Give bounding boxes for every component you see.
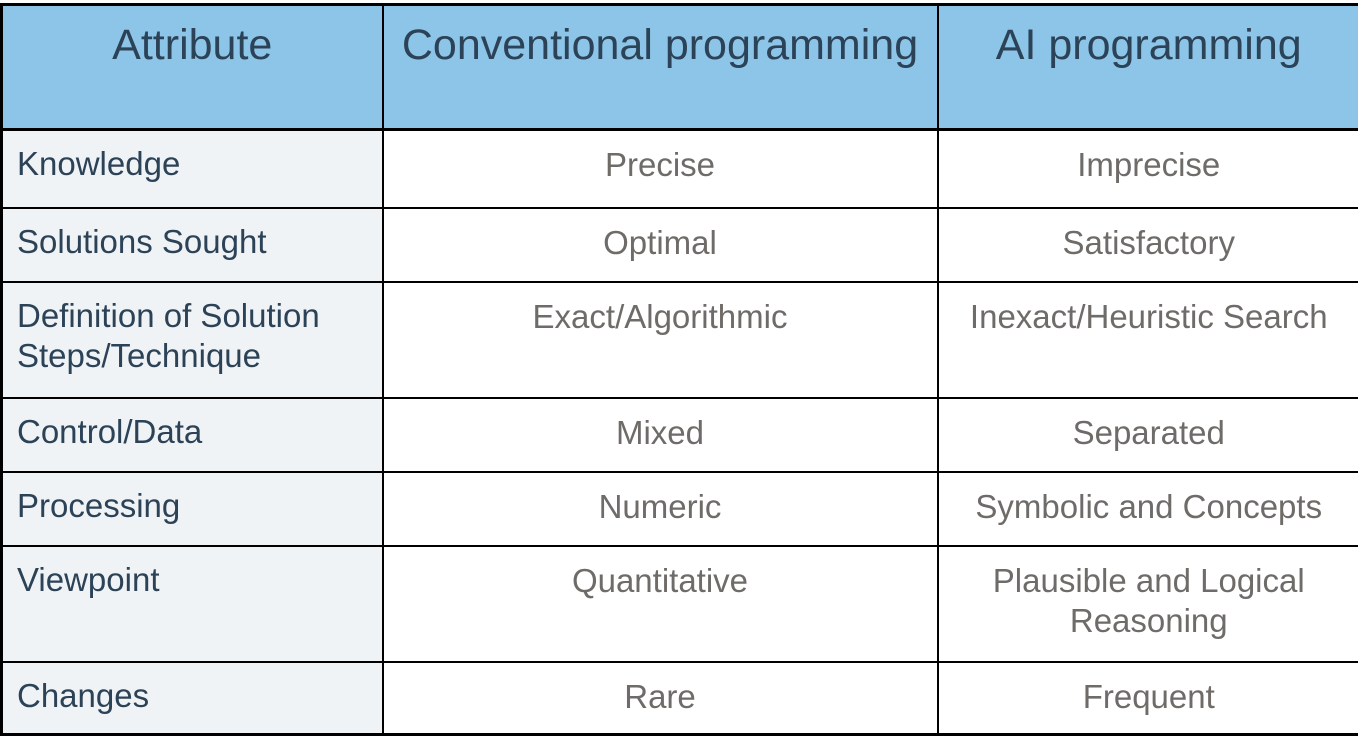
ai-value-cell: Separated [938,398,1358,472]
comparison-table: Attribute Conventional programming AI pr… [0,3,1358,736]
header-row: Attribute Conventional programming AI pr… [2,5,1358,130]
table-row: Control/Data Mixed Separated [2,398,1358,472]
ai-value-cell: Symbolic and Concepts [938,472,1358,546]
table-row: Definition of Solution Steps/Technique E… [2,282,1358,398]
table-row: Solutions Sought Optimal Satisfactory [2,208,1358,282]
conventional-value-cell: Precise [383,130,938,208]
conventional-value-cell: Rare [383,662,938,735]
ai-value-cell: Frequent [938,662,1358,735]
ai-value-cell: Satisfactory [938,208,1358,282]
attribute-cell: Viewpoint [2,546,383,662]
table-body: Knowledge Precise Imprecise Solutions So… [2,130,1358,735]
conventional-value-cell: Numeric [383,472,938,546]
ai-value-cell: Imprecise [938,130,1358,208]
table-row: Knowledge Precise Imprecise [2,130,1358,208]
attribute-cell: Processing [2,472,383,546]
attribute-cell: Definition of Solution Steps/Technique [2,282,383,398]
conventional-value-cell: Exact/Algorithmic [383,282,938,398]
attribute-cell: Changes [2,662,383,735]
ai-value-cell: Inexact/Heuristic Search [938,282,1358,398]
attribute-cell: Control/Data [2,398,383,472]
ai-value-cell: Plausible and Logical Reasoning [938,546,1358,662]
table-row: Changes Rare Frequent [2,662,1358,735]
attribute-cell: Knowledge [2,130,383,208]
column-header-attribute: Attribute [2,5,383,130]
conventional-value-cell: Quantitative [383,546,938,662]
table-header: Attribute Conventional programming AI pr… [2,5,1358,130]
table-row: Processing Numeric Symbolic and Concepts [2,472,1358,546]
column-header-conventional-programming: Conventional programming [383,5,938,130]
table-row: Viewpoint Quantitative Plausible and Log… [2,546,1358,662]
attribute-cell: Solutions Sought [2,208,383,282]
conventional-value-cell: Mixed [383,398,938,472]
comparison-table-container: Attribute Conventional programming AI pr… [0,3,1358,736]
conventional-value-cell: Optimal [383,208,938,282]
column-header-ai-programming: AI programming [938,5,1358,130]
